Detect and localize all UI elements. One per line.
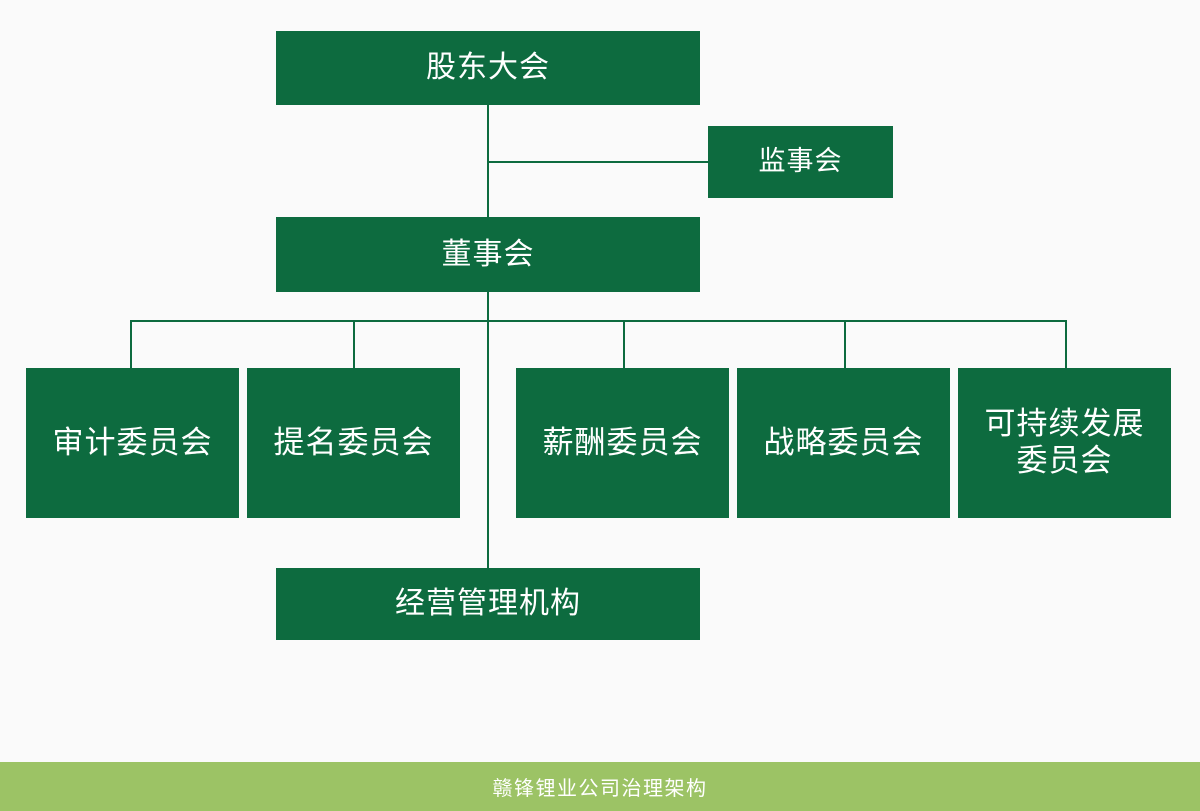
node-strategy-committee[interactable]: 战略委员会: [737, 368, 950, 518]
node-management-body[interactable]: 经营管理机构: [276, 568, 700, 640]
connector-to-supervisors: [487, 161, 709, 163]
connector-directors-to-management: [487, 292, 489, 568]
node-nomination-committee[interactable]: 提名委员会: [247, 368, 460, 518]
connector-drop-strategy-committee: [844, 320, 846, 368]
node-sustainable-development-committee[interactable]: 可持续发展 委员会: [958, 368, 1171, 518]
node-board-of-directors[interactable]: 董事会: [276, 217, 700, 292]
connector-shareholders-to-directors-upper: [487, 105, 489, 162]
caption-text: 赣锋锂业公司治理架构: [493, 772, 708, 801]
connector-drop-nomination-committee: [353, 320, 355, 368]
node-audit-committee[interactable]: 审计委员会: [26, 368, 239, 518]
connector-shareholders-to-directors-lower: [487, 161, 489, 217]
caption-bar: 赣锋锂业公司治理架构: [0, 762, 1200, 811]
node-shareholders-meeting[interactable]: 股东大会: [276, 31, 700, 105]
org-chart-canvas: 股东大会 监事会 董事会 审计委员会 提名委员会 薪酬委员会 战略委员会 可持续…: [0, 0, 1200, 811]
connector-drop-sustainability-committee: [1065, 320, 1067, 368]
connector-drop-audit-committee: [130, 320, 132, 368]
node-board-of-supervisors[interactable]: 监事会: [708, 126, 893, 198]
connector-drop-remuneration-committee: [623, 320, 625, 368]
connector-committee-bus: [130, 320, 1067, 322]
node-remuneration-committee[interactable]: 薪酬委员会: [516, 368, 729, 518]
